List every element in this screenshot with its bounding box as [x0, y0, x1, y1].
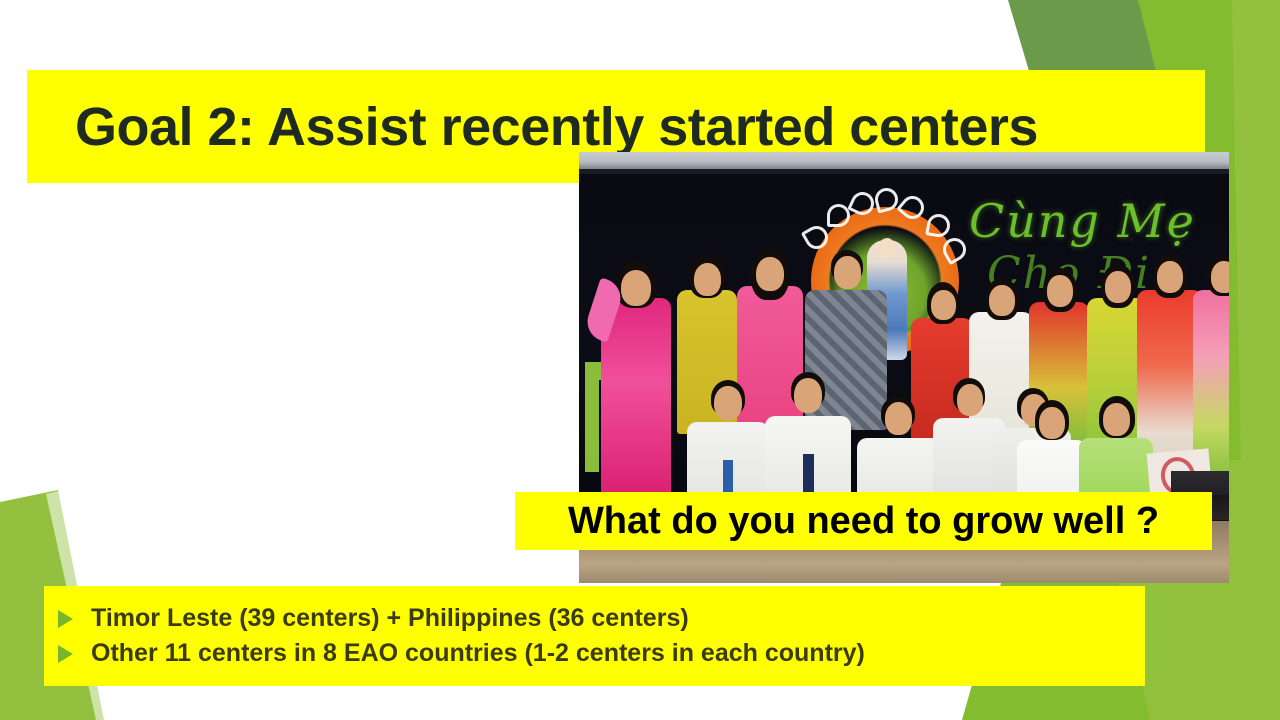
bullet-text: Other 11 centers in 8 EAO countries (1-2…: [91, 641, 865, 666]
list-item: Timor Leste (39 centers) + Philippines (…: [58, 606, 1145, 631]
photo-person: [763, 372, 853, 512]
triangle-bullet-icon: [58, 645, 73, 663]
list-item: Other 11 centers in 8 EAO countries (1-2…: [58, 641, 1145, 666]
slide-canvas: Goal 2: Assist recently started centers …: [0, 0, 1280, 720]
triangle-bullet-icon: [58, 610, 73, 628]
photo-caption-banner: What do you need to grow well ?: [515, 492, 1212, 550]
photo-person: [685, 380, 771, 510]
page-title: Goal 2: Assist recently started centers: [75, 100, 1038, 154]
backdrop-swirl-icon: [827, 204, 850, 227]
bullet-list: Timor Leste (39 centers) + Philippines (…: [44, 586, 1145, 686]
bullet-text: Timor Leste (39 centers) + Philippines (…: [91, 606, 689, 631]
photo-caption-text: What do you need to grow well ?: [568, 502, 1159, 540]
photo-ceiling-strip: [579, 152, 1229, 169]
backdrop-script-text-line1: Cùng Mẹ: [969, 194, 1196, 248]
photo-person: [597, 260, 675, 510]
